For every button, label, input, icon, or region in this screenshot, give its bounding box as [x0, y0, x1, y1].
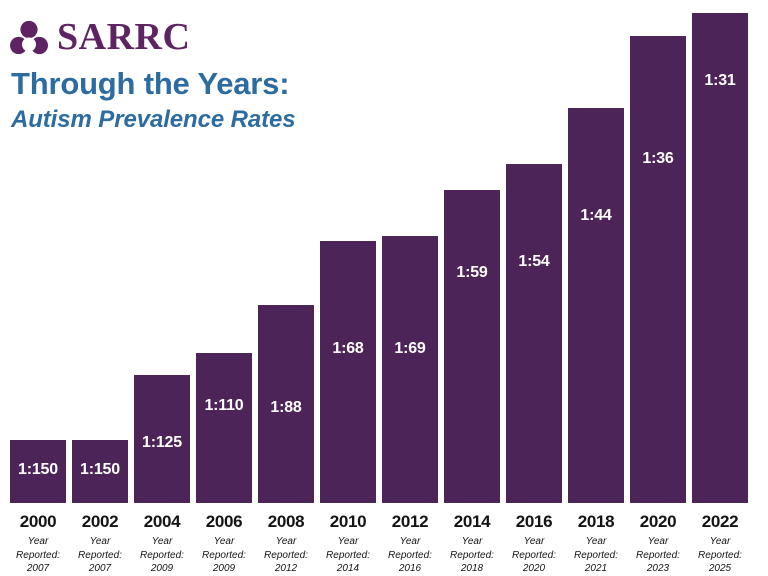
- bar-value-label: 1:110: [196, 398, 252, 414]
- bar[interactable]: [320, 241, 376, 503]
- year-reported-note: YearReported:2007: [72, 535, 128, 576]
- axis-year-label: 2002: [72, 513, 128, 530]
- year-reported-line-2: Reported:: [506, 549, 562, 563]
- bar-group: 1:312022YearReported:2025: [692, 0, 748, 576]
- bar-value-label: 1:125: [134, 435, 190, 451]
- year-reported-note: YearReported:2009: [134, 535, 190, 576]
- bar[interactable]: [382, 236, 438, 503]
- year-reported-line-1: Year: [10, 535, 66, 549]
- axis-year-label: 2008: [258, 513, 314, 530]
- year-reported-line-2: Reported:: [382, 549, 438, 563]
- axis-year-label: 2010: [320, 513, 376, 530]
- bar-value-label: 1:68: [320, 341, 376, 357]
- axis-year-label: 2014: [444, 513, 500, 530]
- bar[interactable]: [506, 164, 562, 503]
- year-reported-note: YearReported:2021: [568, 535, 624, 576]
- year-reported-value: 2009: [196, 562, 252, 576]
- year-reported-note: YearReported:2016: [382, 535, 438, 576]
- year-reported-line-1: Year: [258, 535, 314, 549]
- year-reported-note: YearReported:2009: [196, 535, 252, 576]
- year-reported-line-2: Reported:: [134, 549, 190, 563]
- year-reported-note: YearReported:2023: [630, 535, 686, 576]
- year-reported-line-1: Year: [506, 535, 562, 549]
- year-reported-value: 2016: [382, 562, 438, 576]
- bar-group: 1:542016YearReported:2020: [506, 0, 562, 576]
- year-reported-value: 2014: [320, 562, 376, 576]
- year-reported-value: 2025: [692, 562, 748, 576]
- bar-value-label: 1:150: [10, 462, 66, 478]
- bar[interactable]: [630, 36, 686, 503]
- bar-value-label: 1:69: [382, 341, 438, 357]
- year-reported-line-1: Year: [630, 535, 686, 549]
- year-reported-line-2: Reported:: [444, 549, 500, 563]
- year-reported-line-2: Reported:: [258, 549, 314, 563]
- year-reported-line-1: Year: [320, 535, 376, 549]
- year-reported-line-1: Year: [568, 535, 624, 549]
- axis-year-label: 2020: [630, 513, 686, 530]
- axis-year-label: 2018: [568, 513, 624, 530]
- brand-logo: SARRC: [10, 18, 190, 56]
- year-reported-value: 2021: [568, 562, 624, 576]
- year-reported-value: 2012: [258, 562, 314, 576]
- year-reported-line-1: Year: [444, 535, 500, 549]
- axis-year-label: 2006: [196, 513, 252, 530]
- brand-wordmark: SARRC: [57, 18, 190, 56]
- year-reported-value: 2018: [444, 562, 500, 576]
- year-reported-line-2: Reported:: [692, 549, 748, 563]
- bar[interactable]: [568, 108, 624, 503]
- header: SARRC Through the Years: Autism Prevalen…: [0, 0, 430, 150]
- bar-group: 1:592014YearReported:2018: [444, 0, 500, 576]
- bar-value-label: 1:54: [506, 254, 562, 270]
- year-reported-line-2: Reported:: [72, 549, 128, 563]
- page-title: Through the Years:: [11, 68, 289, 99]
- year-reported-line-1: Year: [134, 535, 190, 549]
- axis-year-label: 2016: [506, 513, 562, 530]
- year-reported-value: 2007: [72, 562, 128, 576]
- year-reported-line-2: Reported:: [320, 549, 376, 563]
- page-subtitle: Autism Prevalence Rates: [11, 108, 296, 132]
- year-reported-line-1: Year: [196, 535, 252, 549]
- year-reported-line-1: Year: [692, 535, 748, 549]
- year-reported-line-2: Reported:: [630, 549, 686, 563]
- year-reported-value: 2009: [134, 562, 190, 576]
- year-reported-note: YearReported:2012: [258, 535, 314, 576]
- year-reported-note: YearReported:2025: [692, 535, 748, 576]
- axis-year-label: 2004: [134, 513, 190, 530]
- bar-group: 1:442018YearReported:2021: [568, 0, 624, 576]
- year-reported-value: 2020: [506, 562, 562, 576]
- bar-value-label: 1:44: [568, 208, 624, 224]
- year-reported-note: YearReported:2007: [10, 535, 66, 576]
- bar[interactable]: [444, 190, 500, 503]
- axis-year-label: 2000: [10, 513, 66, 530]
- year-reported-line-2: Reported:: [196, 549, 252, 563]
- year-reported-line-2: Reported:: [568, 549, 624, 563]
- bar-value-label: 1:31: [692, 73, 748, 89]
- year-reported-note: YearReported:2020: [506, 535, 562, 576]
- year-reported-note: YearReported:2014: [320, 535, 376, 576]
- year-reported-note: YearReported:2018: [444, 535, 500, 576]
- year-reported-line-1: Year: [72, 535, 128, 549]
- bar-value-label: 1:88: [258, 400, 314, 416]
- bar-value-label: 1:36: [630, 151, 686, 167]
- bar-group: 1:362020YearReported:2023: [630, 0, 686, 576]
- year-reported-value: 2007: [10, 562, 66, 576]
- three-circles-logo-icon: [10, 19, 48, 55]
- infographic-page: 1:1502000YearReported:20071:1502002YearR…: [0, 0, 768, 576]
- year-reported-line-1: Year: [382, 535, 438, 549]
- year-reported-value: 2023: [630, 562, 686, 576]
- bar-value-label: 1:150: [72, 462, 128, 478]
- year-reported-line-2: Reported:: [10, 549, 66, 563]
- axis-year-label: 2022: [692, 513, 748, 530]
- bar-value-label: 1:59: [444, 265, 500, 281]
- bar[interactable]: [196, 353, 252, 503]
- axis-year-label: 2012: [382, 513, 438, 530]
